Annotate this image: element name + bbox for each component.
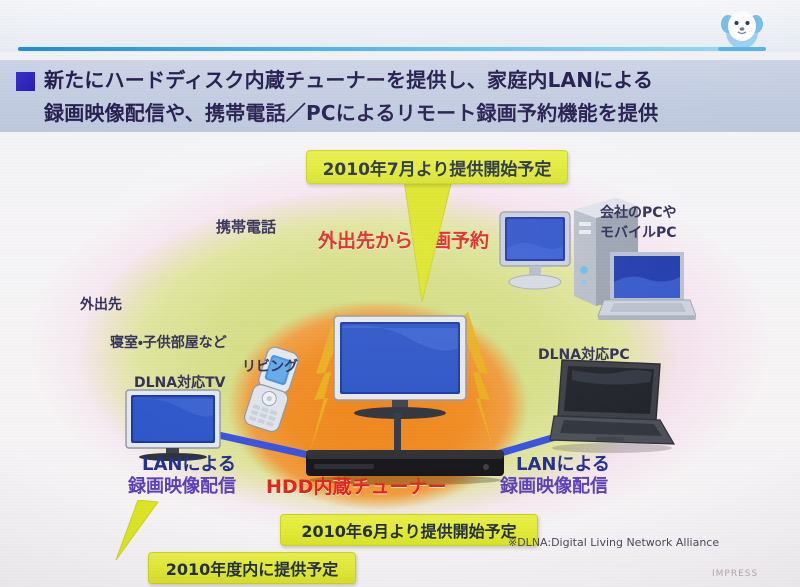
bullet-square-icon — [16, 72, 35, 91]
summary-text: 新たにハードディスク内蔵チューナーを提供し、家庭内LANによる 録画映像配信や、… — [44, 64, 792, 130]
label-mobile-phone: 携帯電話 — [216, 216, 276, 237]
callout-june-2010: 2010年6月より提供開始予定 — [280, 514, 538, 546]
label-office-pc-line2: モバイルPC — [600, 222, 677, 242]
label-bedroom-kidsroom: 寝室・子供部屋など — [110, 332, 227, 352]
label-dlna-tv: DLNA対応TV — [134, 372, 225, 392]
slide-root: ＨＤＤ内蔵チューナーによるマルチルーム対応／携帯連携 新たにハードディスク内蔵チ… — [0, 0, 800, 587]
label-office-pc-line1: 会社のPCや — [600, 202, 677, 222]
diagram-stage: 携帯電話 外出先から録画予約 会社のPCや モバイルPC 外出先 寝室・子供部屋… — [0, 132, 800, 587]
callout-july-2010: 2010年7月より提供開始予定 — [306, 150, 568, 184]
label-living: リビング — [242, 356, 298, 376]
callout-tail-left-bottom — [20, 500, 160, 562]
label-lan-left-line2: 録画映像配信 — [128, 472, 236, 498]
seal-mascot-icon — [716, 2, 768, 52]
label-hdd-tuner: HDD内蔵チューナー — [266, 472, 446, 499]
living-room-tv-icon — [328, 312, 478, 462]
summary-line-2: 録画映像配信や、携帯電話／PCによるリモート録画予約機能を提供 — [44, 97, 792, 130]
label-outside: 外出先 — [80, 294, 122, 314]
slide-header — [0, 0, 800, 52]
dlna-laptop-icon — [548, 358, 678, 454]
callout-tail-top — [400, 180, 530, 310]
callout-fy2010: 2010年度内に提供予定 — [148, 552, 356, 584]
label-lan-right-line2: 録画映像配信 — [500, 472, 608, 498]
summary-line-1: 新たにハードディスク内蔵チューナーを提供し、家庭内LANによる — [44, 64, 792, 97]
title-underline-rule — [18, 47, 742, 51]
office-laptop-icon — [596, 248, 696, 324]
label-dlna-pc: DLNA対応PC — [538, 344, 630, 364]
footnote-dlna: ※DLNA:Digital Living Network Alliance — [508, 536, 719, 549]
watermark: IMPRESS — [712, 569, 758, 579]
